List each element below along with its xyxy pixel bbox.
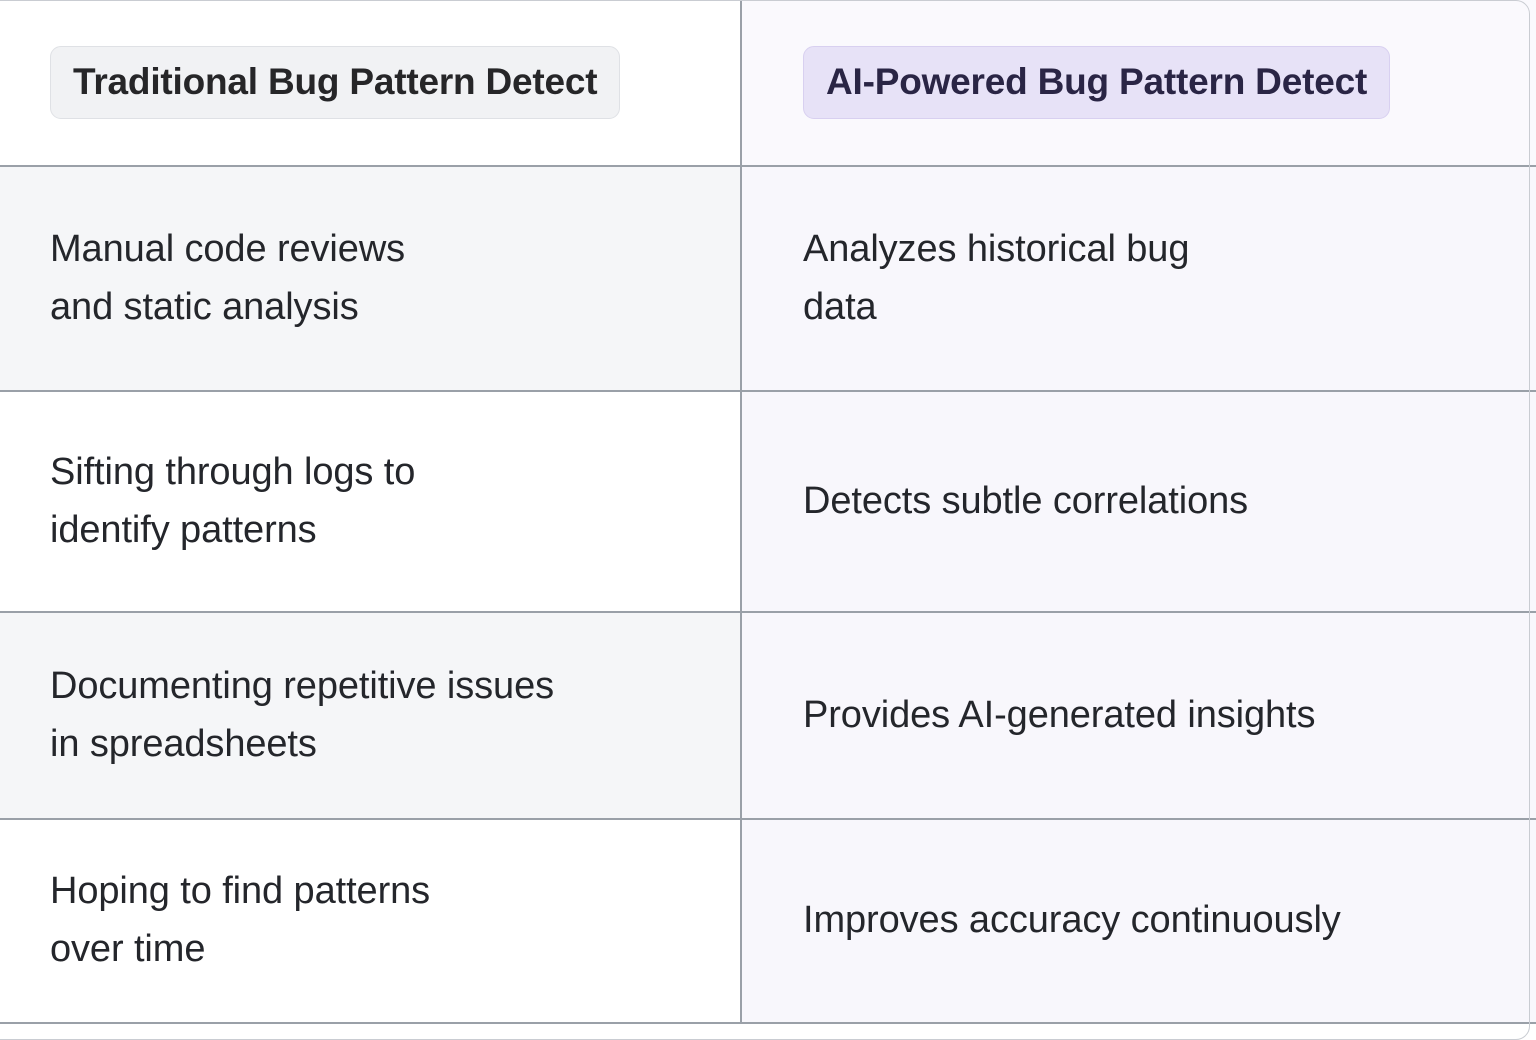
- table-row: Sifting through logs to identify pattern…: [0, 392, 1536, 613]
- cell-traditional: Documenting repetitive issues in spreads…: [0, 613, 742, 818]
- table-body: Manual code reviews and static analysis …: [0, 167, 1536, 1024]
- cell-ai: Improves accuracy continuously: [742, 820, 1536, 1022]
- cell-traditional: Sifting through logs to identify pattern…: [0, 392, 742, 611]
- cell-text: Sifting through logs to identify pattern…: [50, 444, 415, 560]
- column-header-badge-traditional: Traditional Bug Pattern Detect: [50, 46, 620, 119]
- cell-text: Hoping to find patterns over time: [50, 863, 430, 979]
- table-header-row: Traditional Bug Pattern Detect AI-Powere…: [0, 0, 1536, 167]
- table-row: Documenting repetitive issues in spreads…: [0, 613, 1536, 820]
- table-row: Manual code reviews and static analysis …: [0, 167, 1536, 392]
- cell-text: Improves accuracy continuously: [803, 892, 1341, 950]
- cell-text: Documenting repetitive issues in spreads…: [50, 658, 554, 774]
- cell-text: Detects subtle correlations: [803, 473, 1248, 531]
- cell-text: Provides AI-generated insights: [803, 687, 1315, 745]
- cell-traditional: Manual code reviews and static analysis: [0, 167, 742, 390]
- table-row: Hoping to find patterns over time Improv…: [0, 820, 1536, 1024]
- column-header-badge-ai-powered: AI-Powered Bug Pattern Detect: [803, 46, 1390, 119]
- cell-text: Manual code reviews and static analysis: [50, 221, 405, 337]
- comparison-table: Traditional Bug Pattern Detect AI-Powere…: [0, 0, 1536, 1024]
- cell-ai: Detects subtle correlations: [742, 392, 1536, 611]
- cell-traditional: Hoping to find patterns over time: [0, 820, 742, 1022]
- cell-ai: Analyzes historical bug data: [742, 167, 1536, 390]
- cell-text: Analyzes historical bug data: [803, 221, 1189, 337]
- cell-ai: Provides AI-generated insights: [742, 613, 1536, 818]
- header-cell-ai: AI-Powered Bug Pattern Detect: [742, 0, 1536, 165]
- header-cell-traditional: Traditional Bug Pattern Detect: [0, 0, 742, 165]
